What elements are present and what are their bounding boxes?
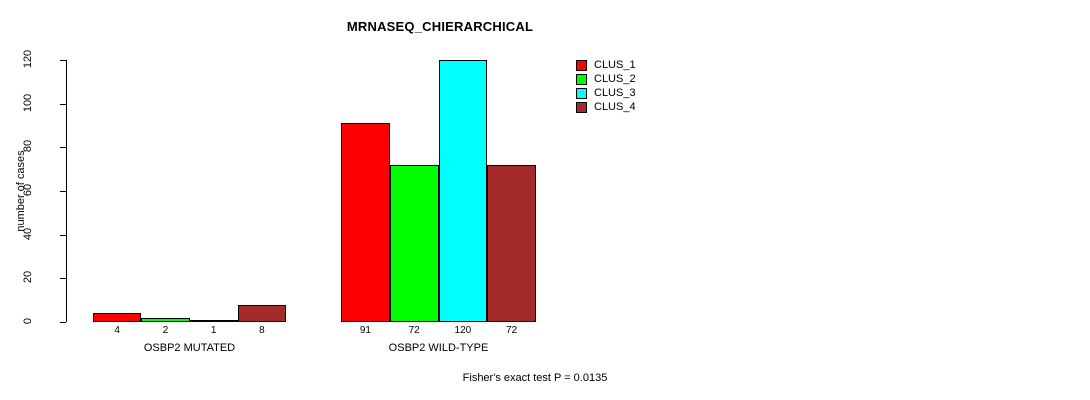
legend-item: CLUS_2 bbox=[576, 72, 636, 86]
bar bbox=[190, 320, 238, 322]
group-axis-label: OSBP2 WILD-TYPE bbox=[341, 342, 536, 354]
legend-label: CLUS_1 bbox=[594, 60, 636, 71]
legend-item: CLUS_3 bbox=[576, 86, 636, 100]
bar-value-label: 91 bbox=[341, 325, 390, 336]
bar-value-label: 8 bbox=[238, 325, 286, 336]
bar-value-label: 2 bbox=[141, 325, 189, 336]
bar-value-label: 1 bbox=[190, 325, 238, 336]
legend-item: CLUS_4 bbox=[576, 100, 636, 114]
group-axis-label: OSBP2 MUTATED bbox=[93, 342, 286, 354]
bar bbox=[141, 318, 189, 322]
legend-color-swatch bbox=[576, 102, 587, 113]
legend-label: CLUS_4 bbox=[594, 102, 636, 113]
bar bbox=[487, 165, 536, 322]
bar-chart-figure: MRNASEQ_CHIERARCHICAL 020406080100120 nu… bbox=[0, 0, 1090, 400]
legend-item: CLUS_1 bbox=[576, 58, 636, 72]
legend: CLUS_1CLUS_2CLUS_3CLUS_4 bbox=[576, 58, 636, 114]
statistical-test-annotation: Fisher's exact test P = 0.0135 bbox=[0, 372, 1080, 384]
bar-value-label: 72 bbox=[390, 325, 439, 336]
bar bbox=[439, 60, 488, 322]
bar bbox=[390, 165, 439, 322]
legend-color-swatch bbox=[576, 88, 587, 99]
legend-label: CLUS_3 bbox=[594, 88, 636, 99]
legend-color-swatch bbox=[576, 74, 587, 85]
plot-area: 4218OSBP2 MUTATED917212072OSBP2 WILD-TYP… bbox=[0, 0, 1090, 400]
bar bbox=[238, 305, 286, 322]
bar-value-label: 120 bbox=[439, 325, 488, 336]
bar-value-label: 4 bbox=[93, 325, 141, 336]
bar bbox=[93, 313, 141, 322]
legend-label: CLUS_2 bbox=[594, 74, 636, 85]
bar bbox=[341, 123, 390, 322]
legend-color-swatch bbox=[576, 60, 587, 71]
bar-value-label: 72 bbox=[487, 325, 536, 336]
